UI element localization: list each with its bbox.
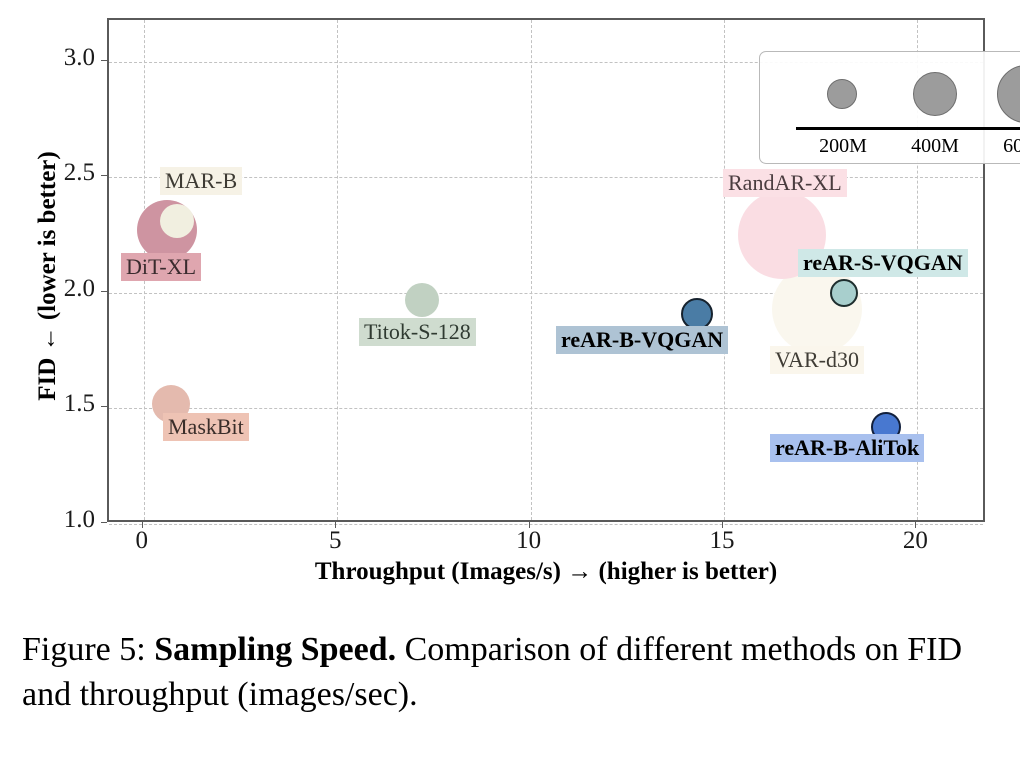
legend-bubble-200m — [827, 79, 857, 109]
legend-arrow-line — [796, 127, 1020, 130]
legend-bubble-400m — [913, 72, 957, 116]
size-legend: 200M400M600M — [759, 51, 1020, 164]
gridline-horizontal — [109, 524, 983, 525]
gridline-vertical — [531, 20, 532, 520]
legend-size-label-400m: 400M — [890, 135, 980, 158]
legend-size-label-200m: 200M — [798, 135, 888, 158]
point-label-rear-s-vqgan: reAR-S-VQGAN — [798, 249, 968, 277]
point-label-maskbit: MaskBit — [163, 413, 249, 441]
point-label-rear-b-alitok: reAR-B-AliTok — [770, 434, 924, 462]
point-label-dit-xl: DiT-XL — [121, 253, 201, 281]
gridline-vertical — [337, 20, 338, 520]
legend-size-label-600m: 600M — [982, 135, 1020, 158]
point-label-titok-s-128: Titok-S-128 — [359, 318, 476, 346]
y-tick-mark — [101, 406, 107, 407]
point-label-rear-b-vqgan: reAR-B-VQGAN — [556, 326, 728, 354]
point-label-mar-b: MAR-B — [160, 167, 242, 195]
y-axis-title: FID ← (lower is better) — [34, 16, 62, 536]
y-tick-mark — [101, 175, 107, 176]
caption-bold: Sampling Speed. — [154, 631, 396, 668]
data-point-rear-s-vqgan[interactable] — [830, 279, 858, 307]
data-point-mar-b[interactable] — [160, 204, 194, 238]
caption-prefix: Figure 5: — [22, 631, 146, 668]
x-tick-label: 20 — [885, 527, 945, 555]
point-label-var-d30: VAR-d30 — [770, 346, 864, 374]
data-point-rear-b-vqgan[interactable] — [681, 298, 713, 330]
x-tick-label: 15 — [692, 527, 752, 555]
data-point-titok-s-128[interactable] — [405, 283, 439, 317]
x-tick-label: 10 — [499, 527, 559, 555]
point-label-randar-xl: RandAR-XL — [723, 169, 847, 197]
y-tick-mark — [101, 522, 107, 523]
figure-sampling-speed: 200M400M600M DiT-XLMAR-BMaskBitTitok-S-1… — [0, 0, 1020, 762]
y-tick-mark — [101, 291, 107, 292]
gridline-horizontal — [109, 408, 983, 409]
y-tick-mark — [101, 60, 107, 61]
x-tick-label: 5 — [305, 527, 365, 555]
x-tick-label: 0 — [112, 527, 172, 555]
gridline-vertical — [724, 20, 725, 520]
figure-caption: Figure 5: Sampling Speed. Comparison of … — [22, 628, 1002, 718]
legend-bubble-600m — [997, 65, 1020, 123]
x-axis-title: Throughput (Images/s) → (higher is bette… — [107, 558, 985, 586]
